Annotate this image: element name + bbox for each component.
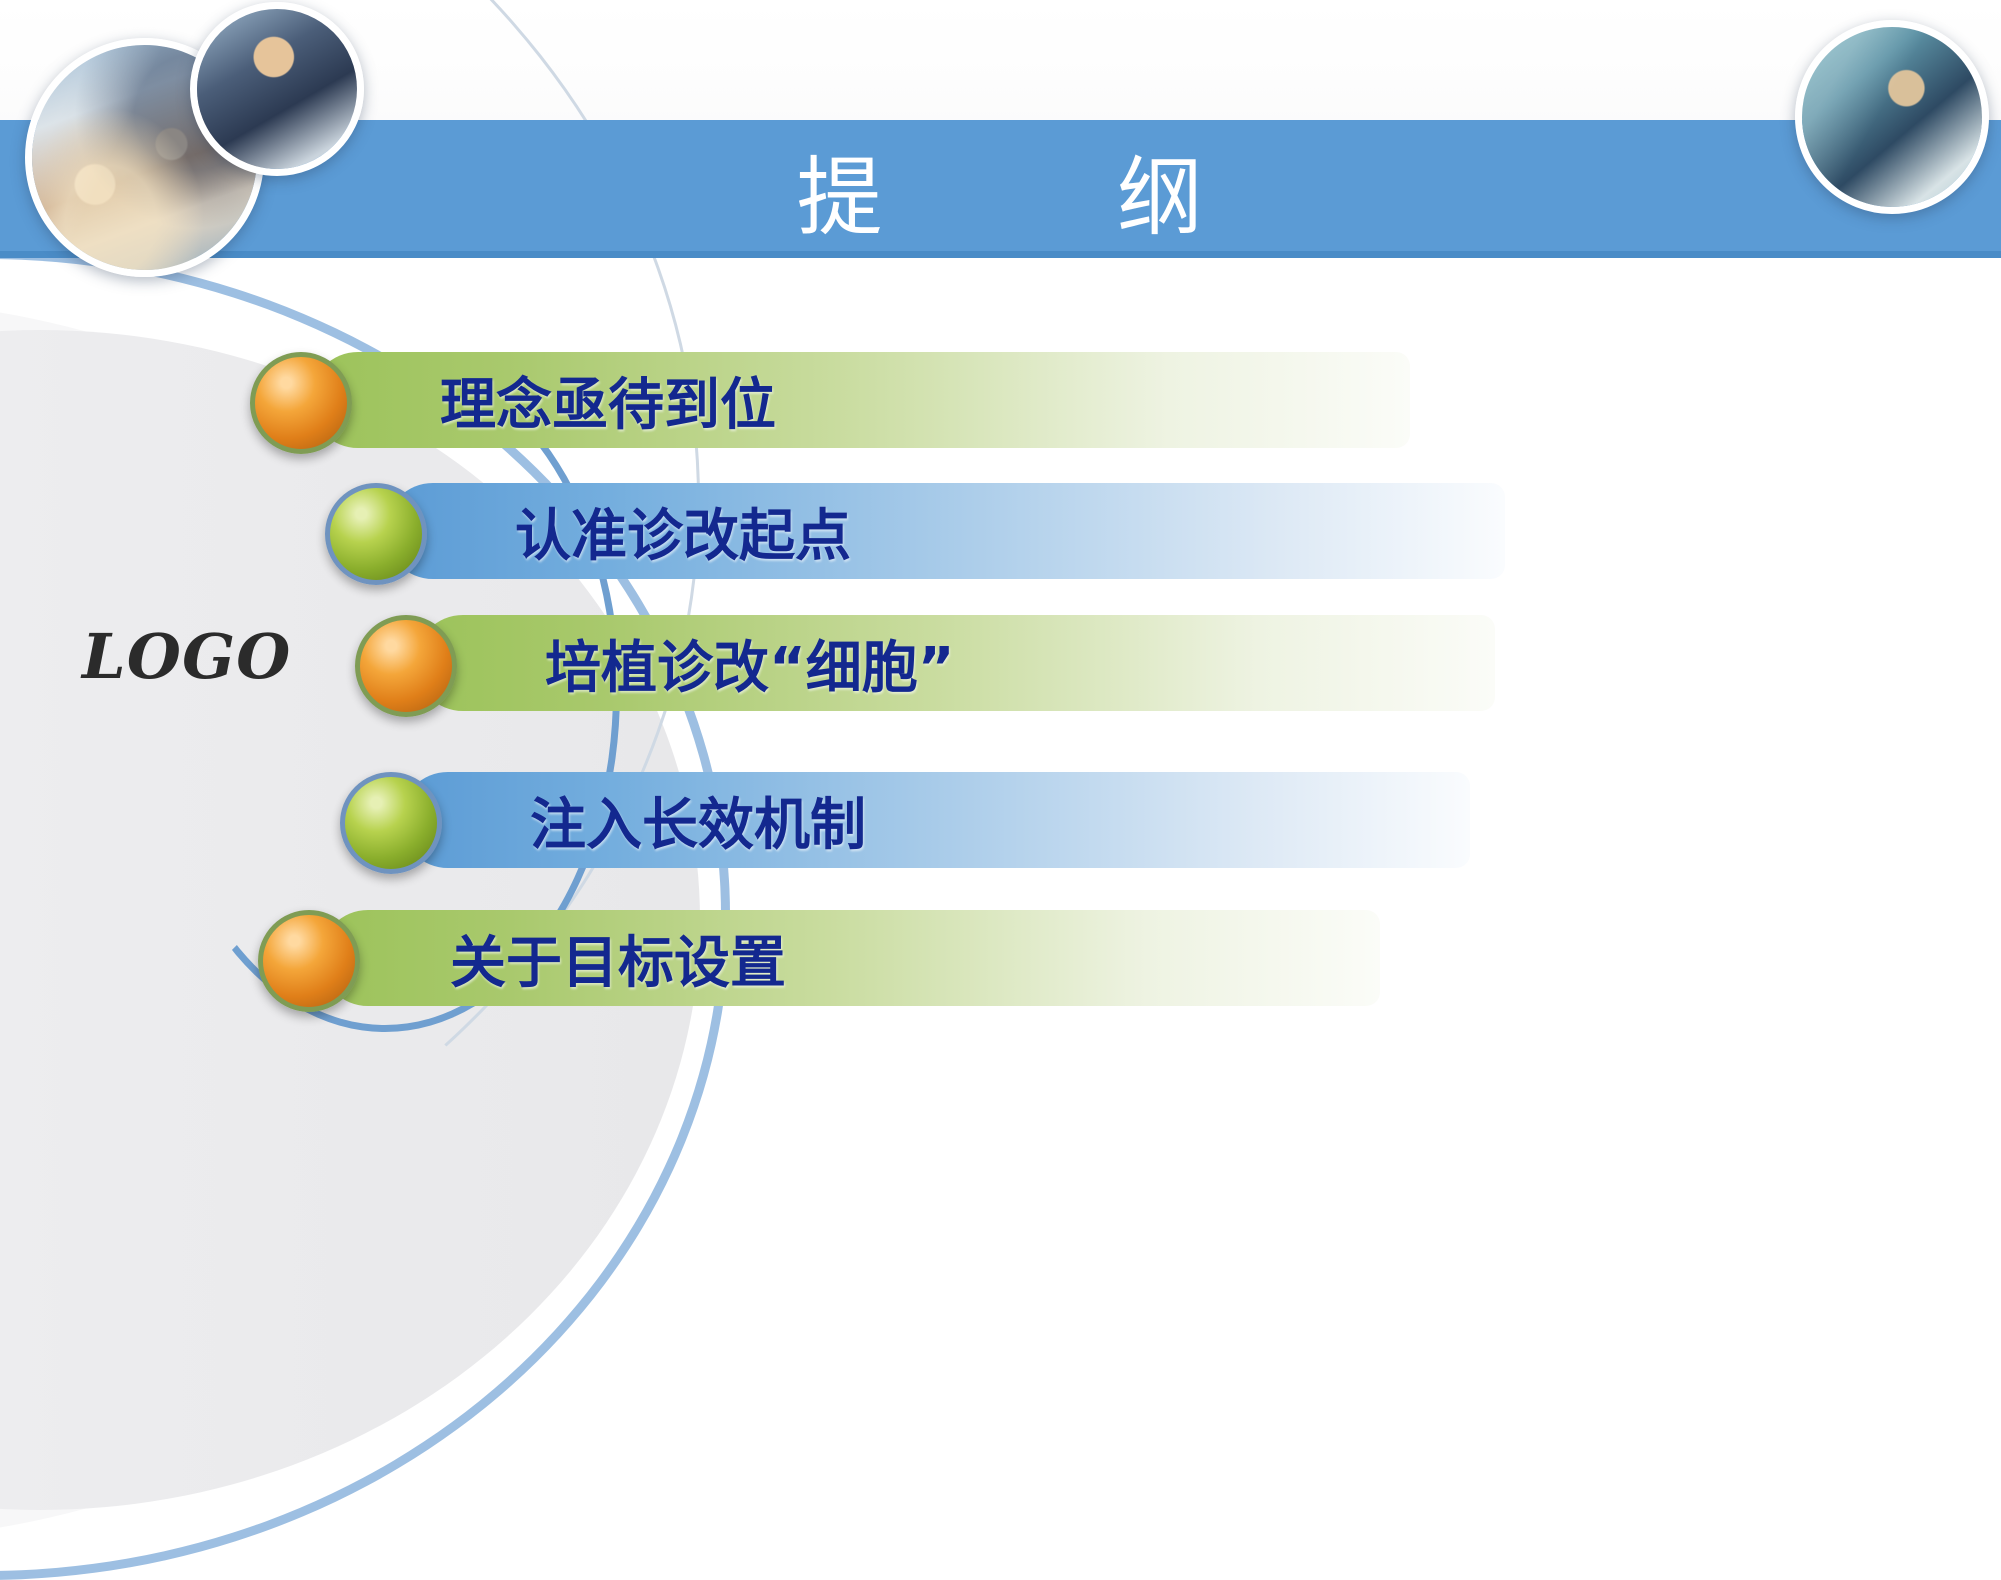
bullet-label: 理念亟待到位 bbox=[440, 352, 776, 448]
photo-image bbox=[197, 9, 357, 169]
photo-bubble-presenter bbox=[1795, 20, 1989, 214]
photo-overlay bbox=[1802, 27, 1982, 207]
list-item[interactable]: 理念亟待到位 bbox=[310, 352, 1410, 448]
bullet-sphere-orange[interactable] bbox=[258, 910, 360, 1012]
bullet-sphere-orange[interactable] bbox=[250, 352, 352, 454]
bullet-label: 培植诊改“细胞” bbox=[545, 615, 955, 711]
photo-bubble-handshake bbox=[190, 2, 364, 176]
list-item[interactable]: 认准诊改起点 bbox=[385, 483, 1505, 579]
bullet-label: 关于目标设置 bbox=[450, 910, 786, 1006]
bullet-sphere-green[interactable] bbox=[325, 483, 427, 585]
bullet-sphere-green[interactable] bbox=[340, 772, 442, 874]
bullet-label: 认准诊改起点 bbox=[515, 483, 851, 579]
bullet-sphere-orange[interactable] bbox=[355, 615, 457, 717]
list-item[interactable]: 培植诊改“细胞” bbox=[415, 615, 1495, 711]
bullet-label: 注入长效机制 bbox=[530, 772, 866, 868]
list-item[interactable]: 关于目标设置 bbox=[320, 910, 1380, 1006]
list-item[interactable]: 注入长效机制 bbox=[400, 772, 1470, 868]
